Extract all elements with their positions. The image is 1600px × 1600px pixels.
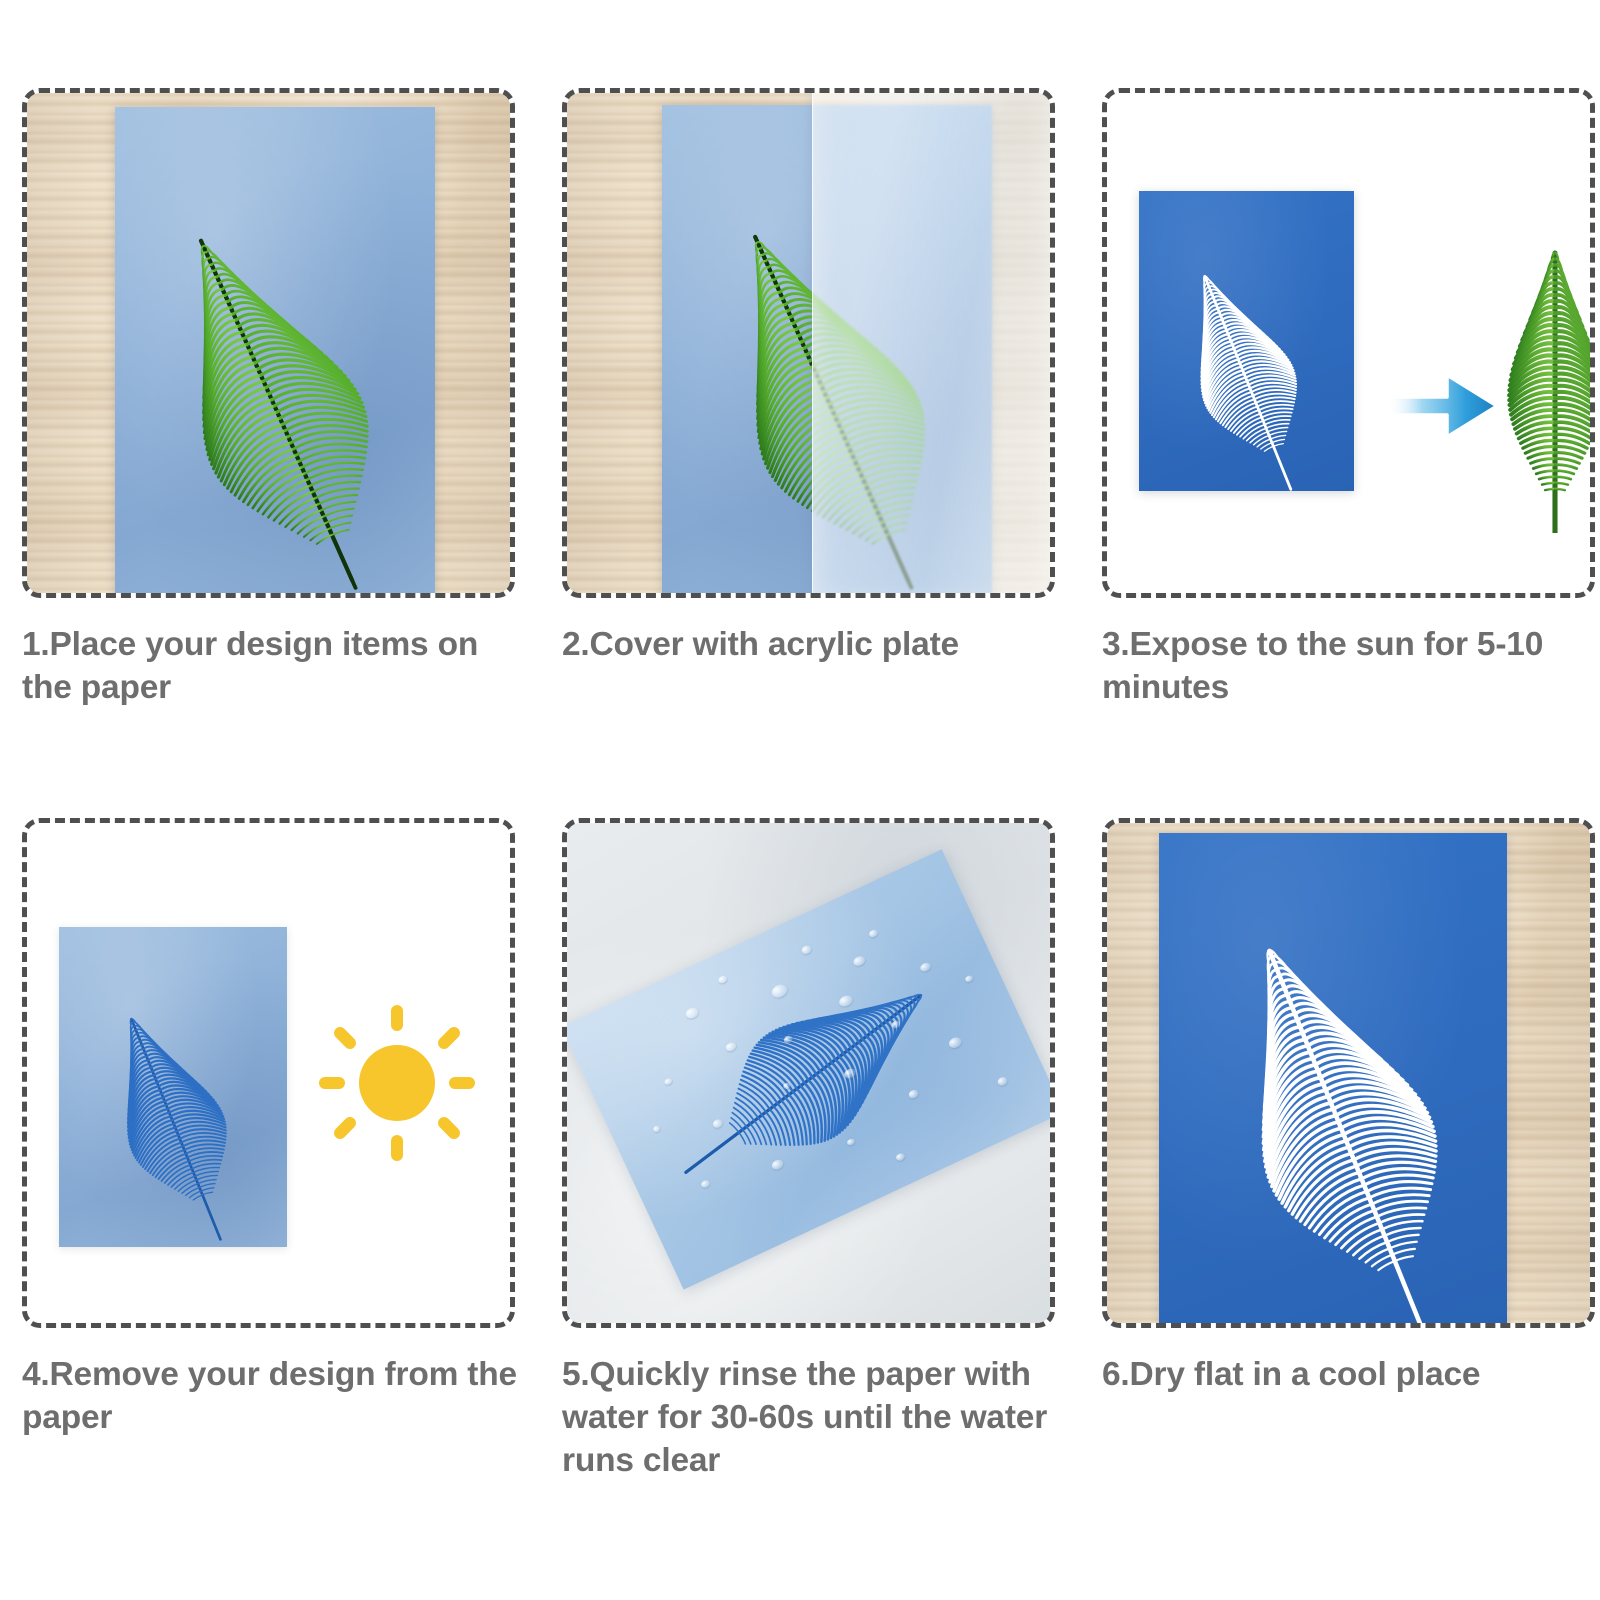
step-1-caption: 1.Place your design items on the paper <box>22 624 517 710</box>
water-droplet <box>711 1118 723 1129</box>
water-droplet <box>684 1006 700 1021</box>
sun-ray <box>332 1025 359 1052</box>
step-4-image-frame <box>22 818 515 1328</box>
step-2-image-frame <box>562 88 1055 598</box>
water-droplet <box>770 982 790 1000</box>
water-droplet <box>782 1082 791 1090</box>
water-droplet <box>907 1088 919 1099</box>
sun-ray <box>449 1077 475 1089</box>
sun-ray <box>391 1135 403 1161</box>
water-droplet <box>868 928 879 938</box>
sun-ray <box>391 1005 403 1031</box>
right-arrow-icon <box>1385 369 1501 443</box>
white-palm-leaf <box>1159 833 1507 1328</box>
step-3-image-frame <box>1102 88 1595 598</box>
water-droplet <box>964 974 974 983</box>
sun-ray <box>319 1077 345 1089</box>
water-droplet <box>846 1138 856 1147</box>
step-5: 5.Quickly rinse the paper with water for… <box>562 818 1055 1548</box>
water-droplet <box>663 1077 673 1086</box>
water-droplet <box>843 1067 858 1080</box>
water-droplet <box>947 1035 963 1050</box>
steps-grid: {} 1.Place your design items on the pape… <box>0 0 1600 1600</box>
step-6-image-frame <box>1102 818 1595 1328</box>
instructions-infographic: {} 1.Place your design items on the pape… <box>0 0 1600 1600</box>
sun-core <box>359 1045 435 1121</box>
step-4-caption: 4.Remove your design from the paper <box>22 1354 517 1440</box>
step-3: 3.Expose to the sun for 5-10 minutes <box>1102 88 1595 818</box>
step-6-caption: 6.Dry flat in a cool place <box>1102 1354 1597 1397</box>
step-4: 4.Remove your design from the paper <box>22 818 515 1548</box>
water-droplet <box>852 954 867 967</box>
step-1: {} 1.Place your design items on the pape… <box>22 88 515 818</box>
water-droplet <box>770 1158 785 1171</box>
green-palm-leaf: {} <box>115 107 435 598</box>
water-droplet <box>800 944 812 955</box>
water-droplet <box>895 1152 906 1162</box>
water-droplet <box>837 993 854 1008</box>
sun-ray <box>436 1025 463 1052</box>
step-5-image-frame <box>562 818 1055 1328</box>
step-2-caption: 2.Cover with acrylic plate <box>562 624 1057 667</box>
step-2: 2.Cover with acrylic plate <box>562 88 1055 818</box>
water-droplet <box>652 1125 661 1133</box>
green-palm-leaf <box>1487 233 1595 533</box>
sun-icon <box>317 1003 477 1163</box>
blue-leaf-imprint <box>59 927 287 1247</box>
water-droplet <box>700 1179 711 1189</box>
water-droplet <box>724 1041 737 1053</box>
acrylic-plate <box>812 88 1052 598</box>
step-5-caption: 5.Quickly rinse the paper with water for… <box>562 1354 1057 1483</box>
sun-ray <box>332 1115 359 1142</box>
step-1-image-frame: {} <box>22 88 515 598</box>
water-droplet <box>783 1034 794 1044</box>
step-3-caption: 3.Expose to the sun for 5-10 minutes <box>1102 624 1597 710</box>
water-droplet <box>890 1019 901 1029</box>
white-palm-leaf-print <box>1139 191 1354 491</box>
water-droplet <box>996 1076 1008 1087</box>
water-droplet <box>919 961 932 973</box>
step-6: 6.Dry flat in a cool place <box>1102 818 1595 1548</box>
sun-ray <box>436 1115 463 1142</box>
water-droplet <box>717 974 728 984</box>
